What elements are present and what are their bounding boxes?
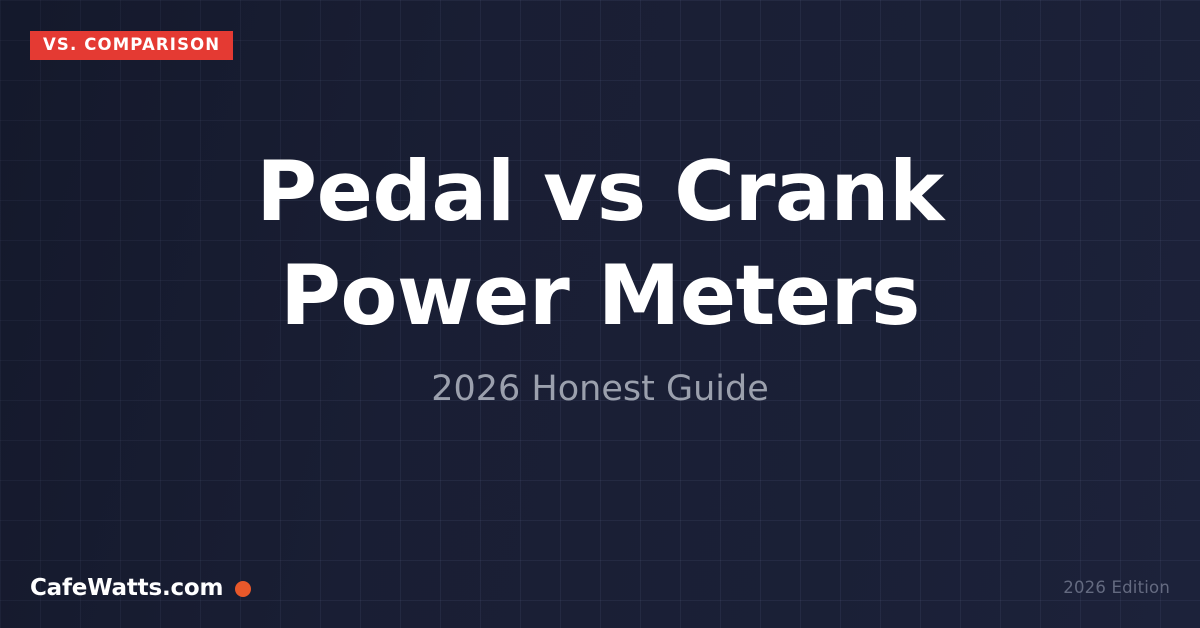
footer: CafeWatts.com 2026 Edition [30, 577, 1170, 600]
hero-text-block: Pedal vs Crank Power Meters 2026 Honest … [0, 140, 1200, 409]
page-subtitle: 2026 Honest Guide [0, 370, 1200, 409]
brand-lockup: CafeWatts.com [30, 577, 251, 600]
edition-label: 2026 Edition [1063, 580, 1170, 597]
brand-name: CafeWatts.com [30, 577, 223, 600]
orange-dot-icon [235, 581, 251, 597]
page-title-line-1: Pedal vs Crank [0, 140, 1200, 244]
page-title-line-2: Power Meters [0, 244, 1200, 348]
category-badge-label: VS. COMPARISON [43, 37, 220, 54]
category-badge: VS. COMPARISON [30, 31, 233, 60]
social-share-card: VS. COMPARISON Pedal vs Crank Power Mete… [0, 0, 1200, 628]
